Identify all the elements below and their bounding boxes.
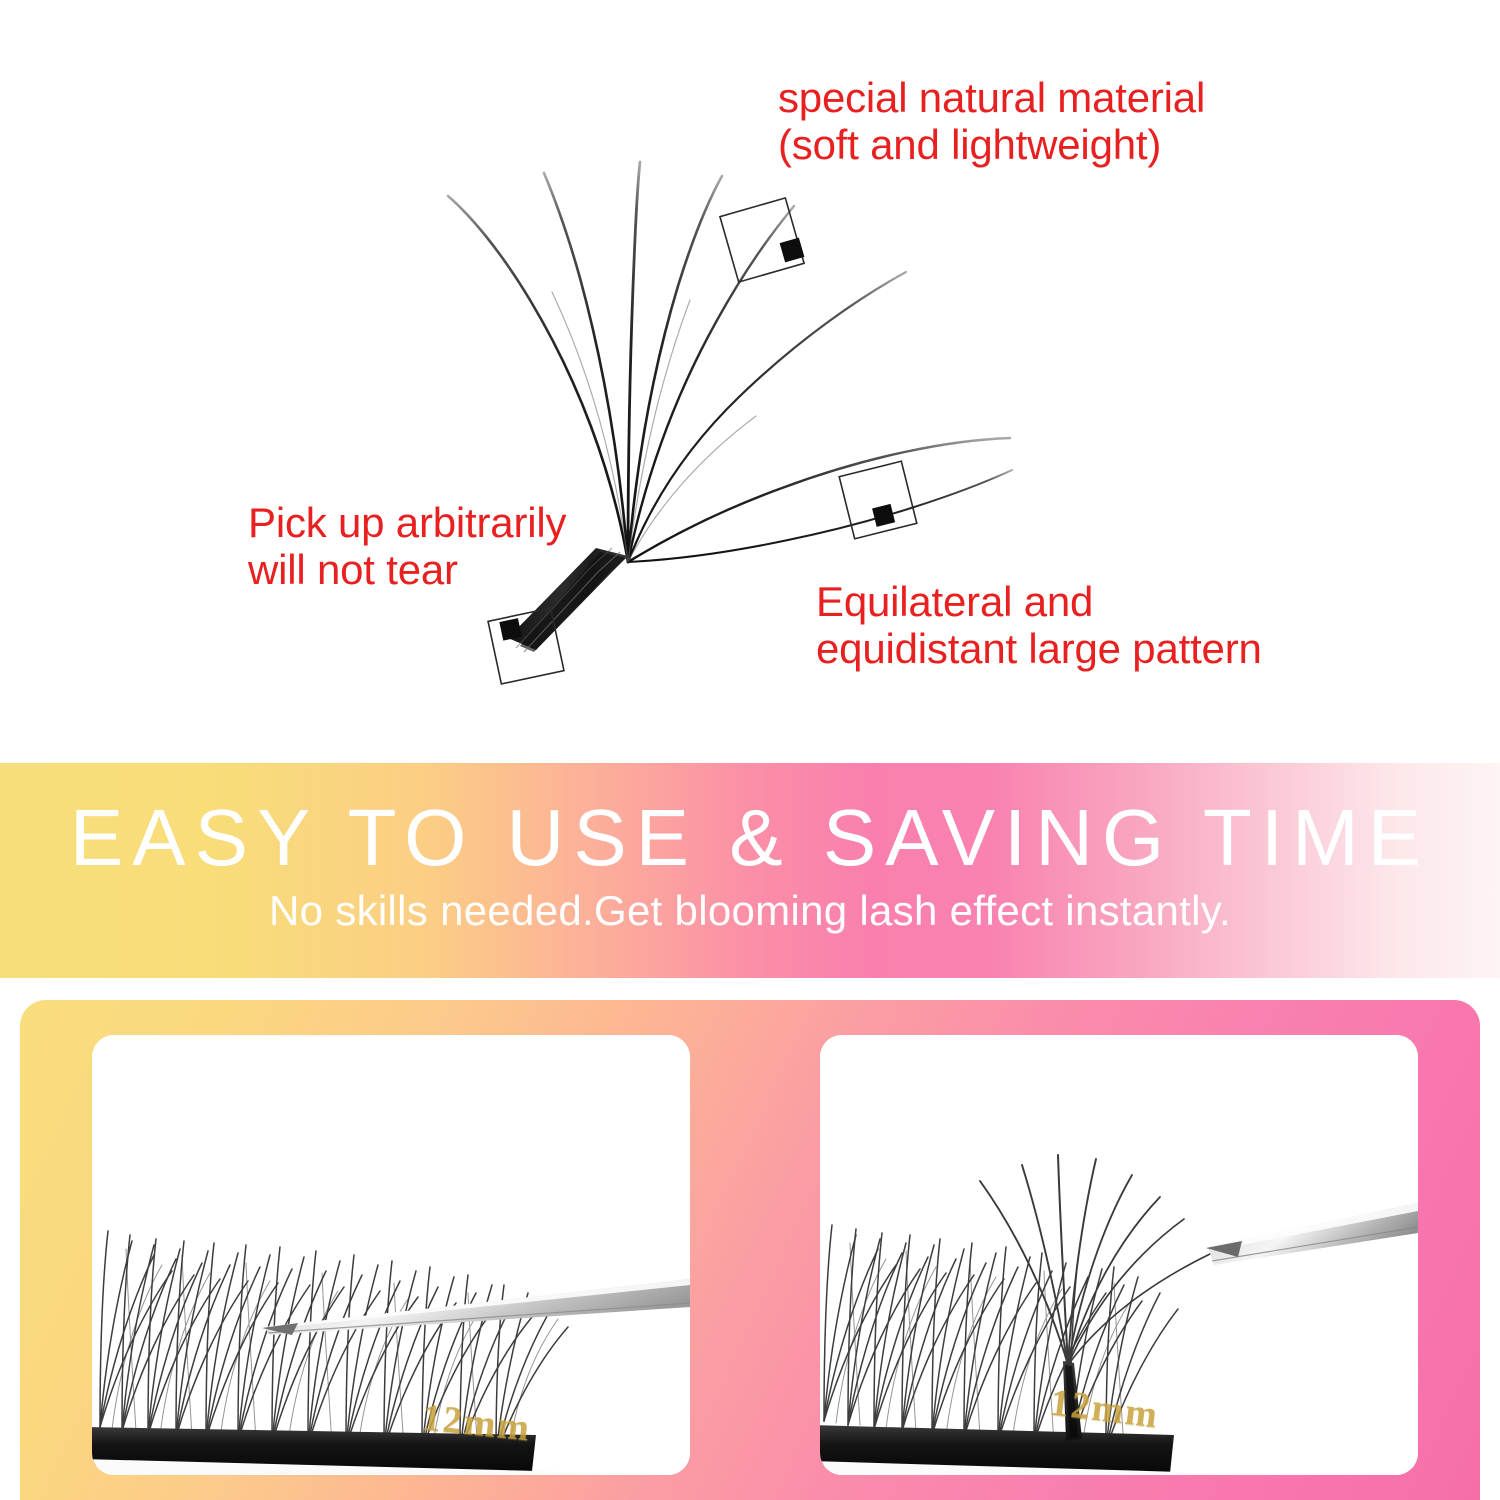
callout-pick-up-arbitrarily: Pick up arbitrarily will not tear — [248, 499, 566, 593]
callout-equilateral-equidistant: Equilateral and equidistant large patter… — [816, 578, 1262, 672]
lash-fan-diagram — [0, 0, 1500, 763]
callout-special-natural-material: special natural material (soft and light… — [778, 74, 1205, 168]
banner-subheading: No skills needed.Get blooming lash effec… — [0, 890, 1500, 932]
photo-card-lash-tray-with-tweezers: 12mm — [92, 1035, 690, 1475]
marker-square-middle — [839, 461, 917, 539]
banner-heading: EASY TO USE & SAVING TIME — [0, 798, 1500, 878]
photo-panel: 12mm — [20, 1000, 1480, 1500]
hero-section: special natural material (soft and light… — [0, 0, 1500, 763]
photo-card-lifted-fan: 12mm — [820, 1035, 1418, 1475]
